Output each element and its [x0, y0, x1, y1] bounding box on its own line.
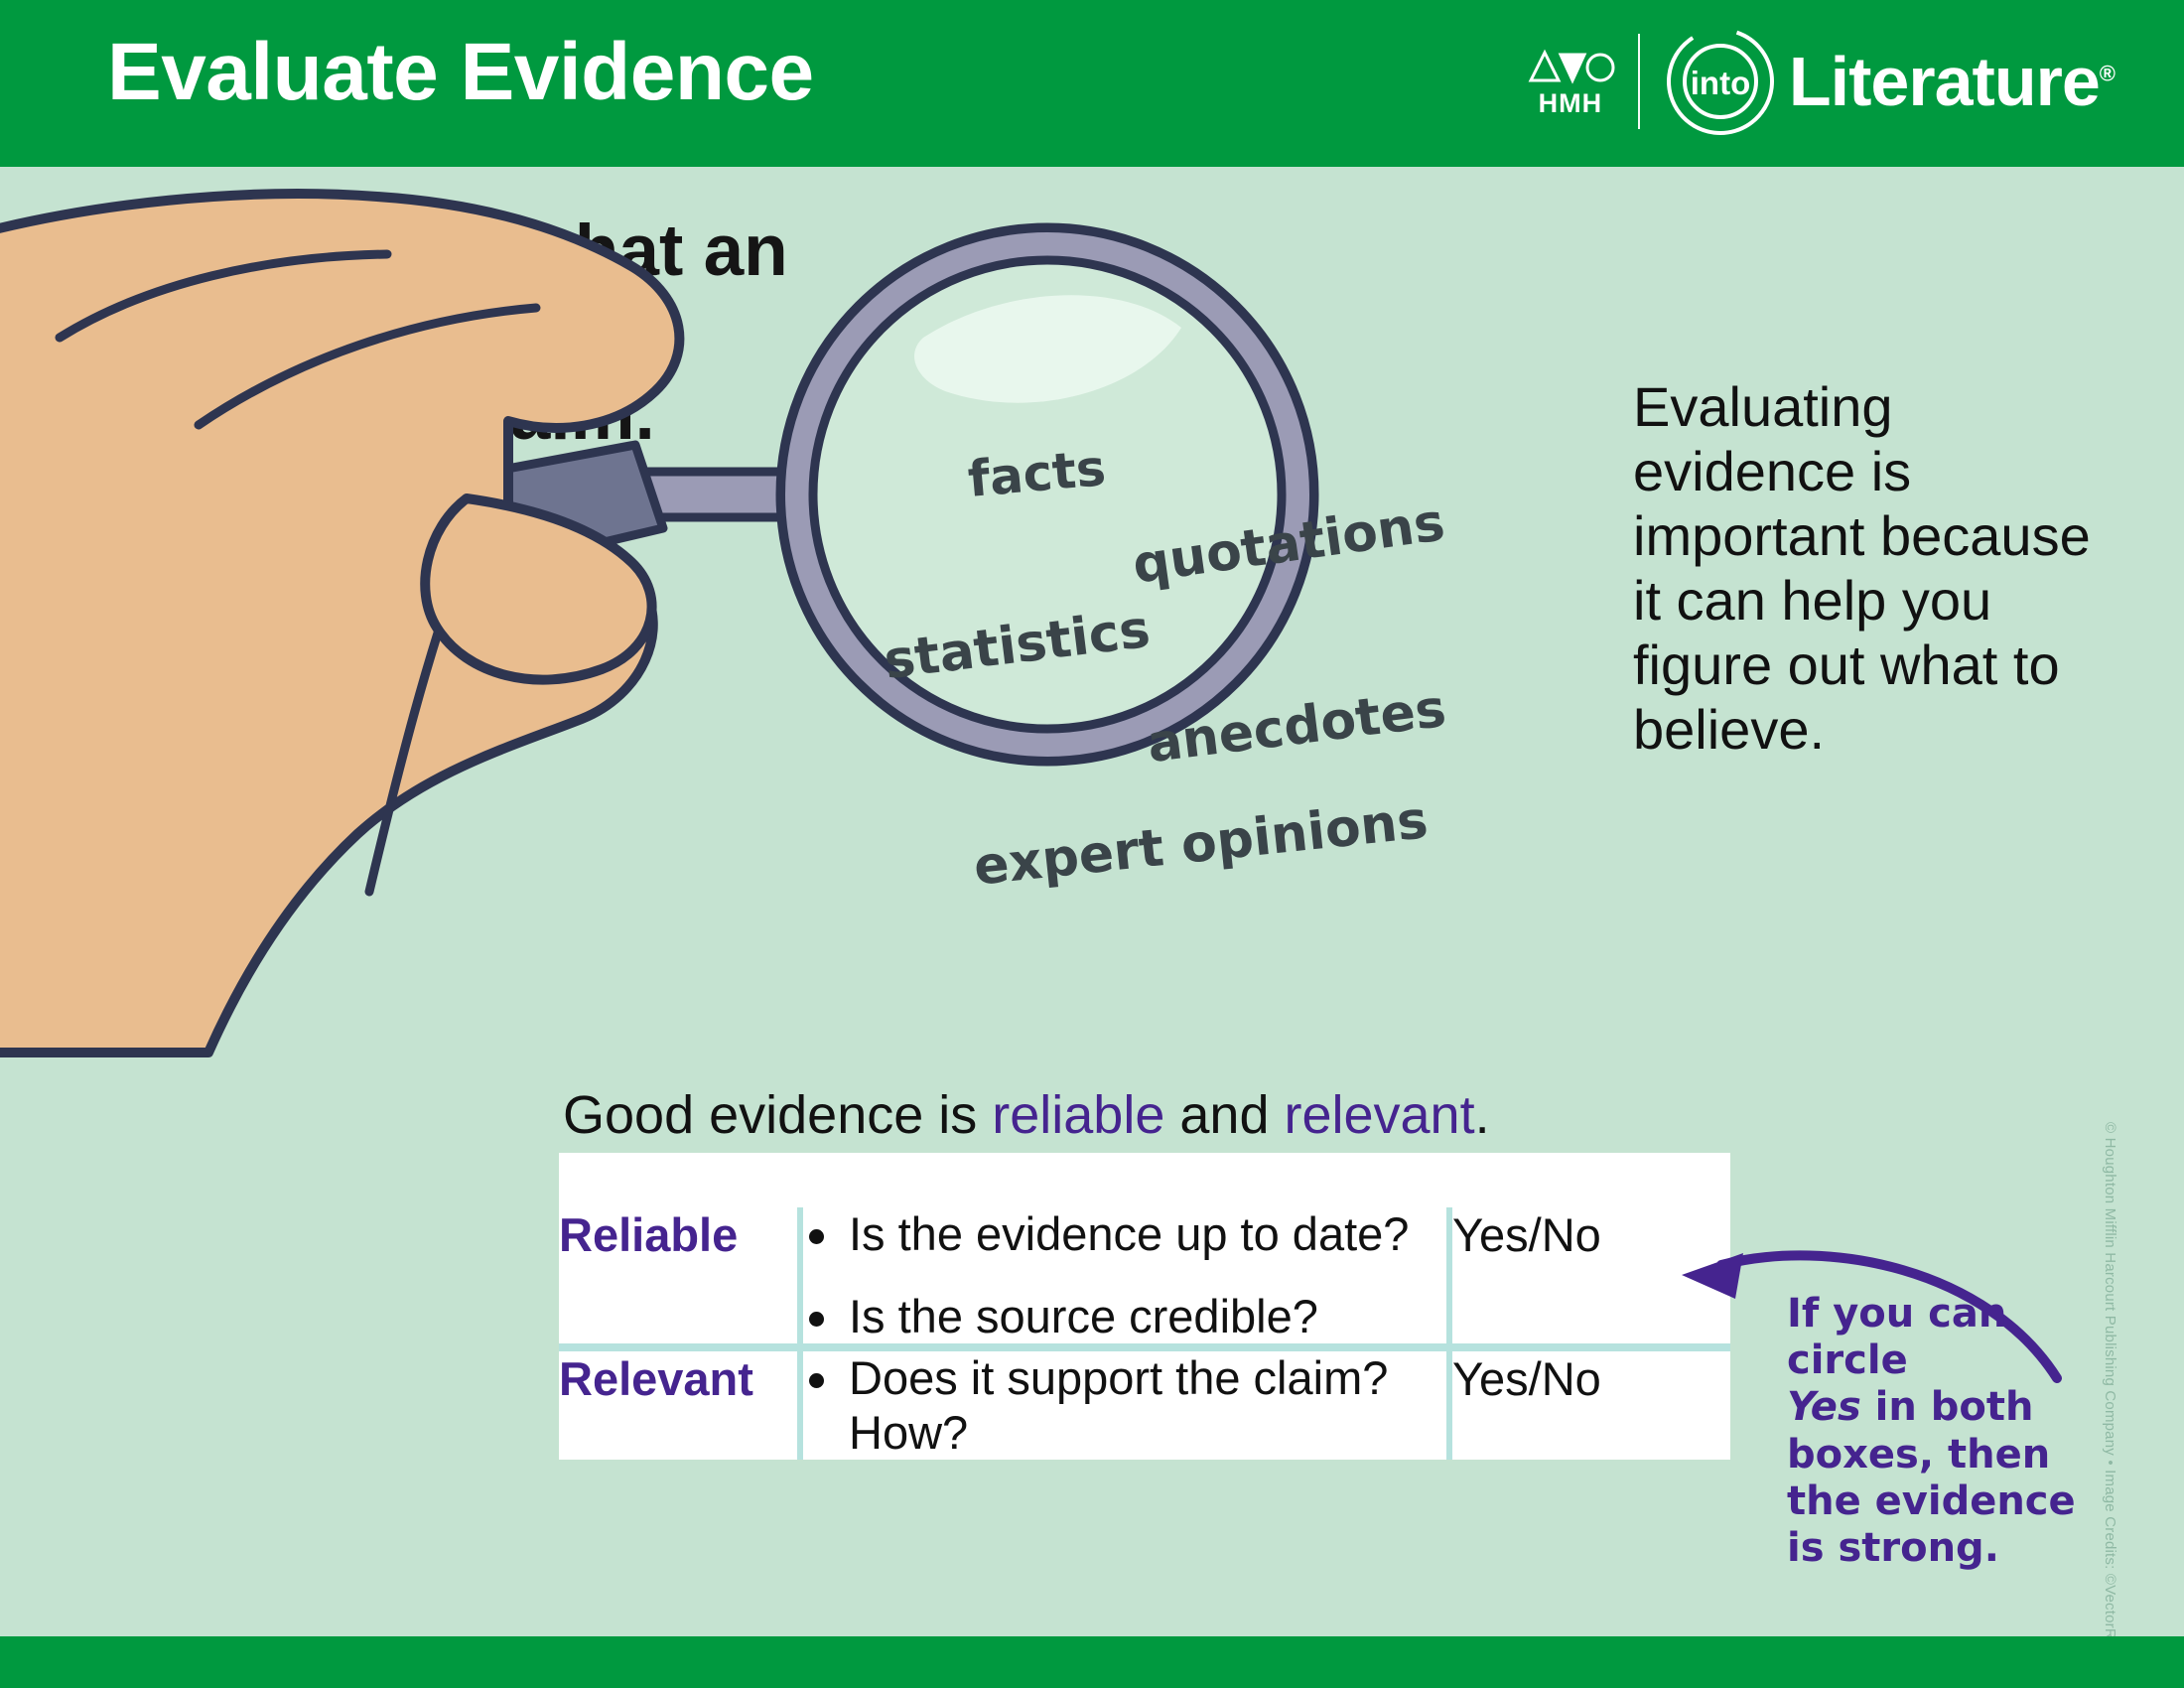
lead-line-middle: and [1164, 1085, 1284, 1145]
row-answer-relevant[interactable]: Yes/No [1452, 1343, 1730, 1460]
hmh-shapes-icon [1525, 47, 1616, 86]
into-literature-logo: into Literature® [1662, 23, 2115, 140]
callout-line-5: is strong. [1787, 1525, 2085, 1572]
callout-line-1: If you can circle [1787, 1291, 2085, 1384]
table-header-title: The R & R of Strong Evidence [559, 1153, 1730, 1207]
svg-text:into: into [1691, 65, 1750, 101]
literature-text: Literature [1789, 43, 2100, 120]
lens-word-expert-opinions: expert opinions [971, 790, 1431, 898]
hmh-wordmark: HMH [1539, 90, 1603, 117]
literature-wordmark: Literature® [1789, 47, 2115, 116]
lead-line-reliable: reliable [992, 1085, 1164, 1145]
question-list: Does it support the claim? How? [803, 1351, 1446, 1460]
headline: Evidence is what an author uses to suppo… [99, 211, 794, 456]
callout-note: If you can circle Yes in both boxes, the… [1787, 1291, 2085, 1572]
lens-word-quotations: quotations [1129, 492, 1448, 595]
logo-divider [1638, 34, 1640, 129]
poster-canvas: Evaluate Evidence HMH into Literature® E… [0, 0, 2184, 1688]
registered-mark: ® [2100, 62, 2115, 86]
lead-line-relevant: relevant [1284, 1085, 1474, 1145]
lead-line: Good evidence is reliable and relevant. [563, 1084, 1490, 1146]
list-item: Is the source credible? [803, 1290, 1446, 1344]
brand-logo: HMH into Literature® [1525, 26, 2115, 137]
lens-word-statistics: statistics [881, 600, 1153, 691]
lead-line-suffix: . [1475, 1085, 1490, 1145]
row-label-relevant: Relevant [559, 1343, 803, 1460]
hmh-logo: HMH [1525, 47, 1616, 117]
supporting-paragraph: Evaluating evidence is important because… [1633, 375, 2100, 763]
callout-emphasis: Yes [1787, 1384, 1861, 1430]
callout-line-4: the evidence [1787, 1478, 2085, 1525]
rr-evidence-table: The R & R of Strong Evidence Reliable Is… [559, 1153, 1730, 1460]
list-item: Does it support the claim? How? [803, 1351, 1446, 1460]
lead-line-prefix: Good evidence is [563, 1085, 992, 1145]
footer-band [0, 1636, 2184, 1688]
copyright-credit: © Houghton Mifflin Harcourt Publishing C… [2102, 1122, 2118, 1589]
headline-accent-word: Evidence [99, 211, 418, 291]
row-label-reliable: Reliable [559, 1207, 803, 1343]
callout-line-3: boxes, then [1787, 1432, 2085, 1478]
lens-word-anecdotes: anecdotes [1144, 679, 1448, 774]
page-title: Evaluate Evidence [107, 26, 814, 119]
table-row: Relevant Does it support the claim? How?… [559, 1343, 1730, 1460]
table-row: Reliable Is the evidence up to date? Is … [559, 1207, 1730, 1343]
row-answer-reliable[interactable]: Yes/No [1452, 1207, 1730, 1343]
magnifier-handle-icon [465, 445, 824, 568]
list-item: Is the evidence up to date? [803, 1207, 1446, 1262]
row-questions-reliable: Is the evidence up to date? Is the sourc… [803, 1207, 1452, 1343]
callout-line-2-rest: in both [1861, 1384, 2034, 1430]
into-circle-icon: into [1662, 23, 1779, 140]
lens-glint-icon [914, 295, 1181, 402]
table-header-row: The R & R of Strong Evidence [559, 1153, 1730, 1207]
row-questions-relevant: Does it support the claim? How? [803, 1343, 1452, 1460]
lens-word-facts: facts [966, 439, 1108, 508]
callout-line-2: Yes in both [1787, 1384, 2085, 1431]
question-list: Is the evidence up to date? Is the sourc… [803, 1207, 1446, 1343]
